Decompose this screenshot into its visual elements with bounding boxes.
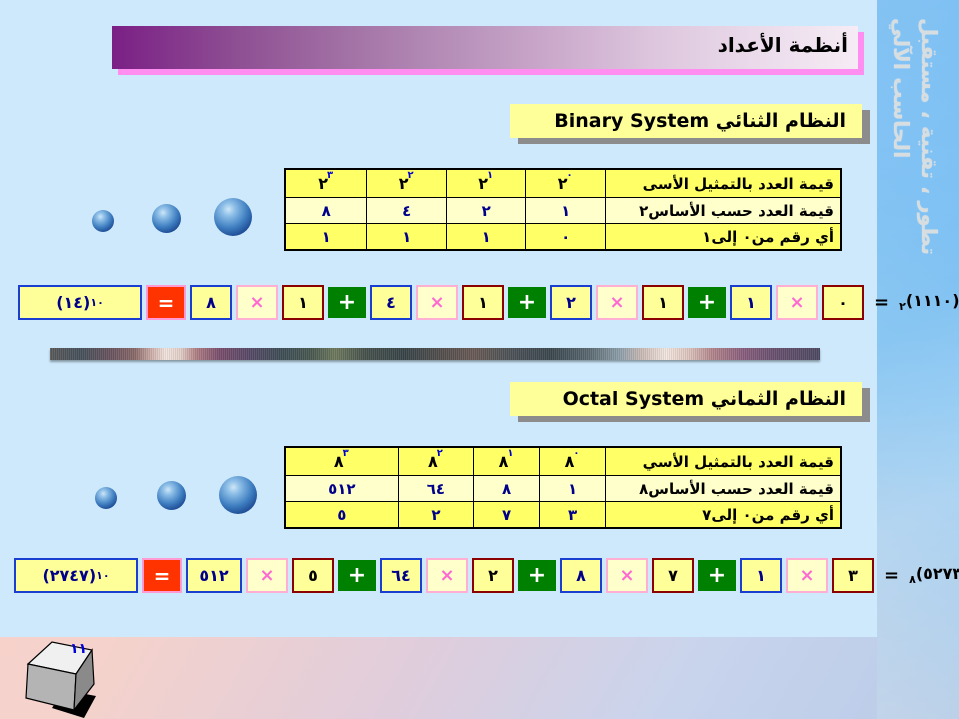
- octal-equation-label: العدد(٥٢٧٣)٨: [909, 564, 959, 586]
- octal-equation-equal-sign: =: [884, 565, 899, 586]
- side-caption: تطور ، تقنية ، مستقبل الحاسب الآلي: [879, 12, 957, 282]
- slide-canvas: تطور ، تقنية ، مستقبل الحاسب الآلي أنظمة…: [0, 0, 959, 719]
- binary-header-label: النظام الثنائي Binary System: [554, 110, 862, 132]
- octal-row-label-range: أي رقم من٠ إلى٧: [606, 502, 842, 529]
- binary-plus-2: +: [328, 287, 366, 318]
- binary-power-cell-0: ٢٠: [526, 169, 606, 198]
- binary-digit-2: ١: [367, 224, 447, 251]
- binary-place-value-1: ٢: [446, 198, 526, 224]
- binary-result-value: (١٤): [56, 293, 90, 312]
- octal-term-digit-0: ٣: [832, 558, 874, 593]
- octal-power-cell-1: ٨١: [474, 447, 540, 476]
- binary-power-exp-0: ٠: [567, 170, 573, 181]
- binary-table: ٢٣ ٢٢ ٢١ ٢٠ قيمة العدد بالتمثيل الأسى ٨ …: [284, 168, 842, 251]
- octal-digit-2: ٢: [398, 502, 473, 529]
- octal-place-value-2: ٦٤: [398, 476, 473, 502]
- octal-term-digit-1: ٧: [652, 558, 694, 593]
- table-row: ٨ ٤ ٢ ١ قيمة العدد حسب الأساس٢: [285, 198, 841, 224]
- binary-equals-box: =: [146, 285, 186, 320]
- octal-place-value-1: ٨: [474, 476, 540, 502]
- octal-plus-2: +: [338, 560, 376, 591]
- binary-term-digit-2: ١: [462, 285, 504, 320]
- page-title: أنظمة الأعداد: [718, 33, 848, 57]
- binary-term-times-3: ×: [236, 285, 278, 320]
- octal-equals-box: =: [142, 558, 182, 593]
- binary-power-exp-3: ٣: [327, 170, 333, 181]
- binary-power-exp-1: ١: [487, 170, 493, 181]
- octal-term-value-2: ٦٤: [380, 558, 422, 593]
- sphere-medium-binary: [152, 204, 181, 233]
- octal-power-exp-2: ٢: [437, 448, 443, 459]
- sphere-large-octal: [219, 476, 257, 514]
- binary-equation-number: العدد(١١١٠): [906, 291, 959, 310]
- binary-term-times-1: ×: [596, 285, 638, 320]
- octal-term-times-3: ×: [246, 558, 288, 593]
- octal-power-exp-0: ٠: [573, 448, 579, 459]
- octal-plus-1: +: [518, 560, 556, 591]
- octal-equation-row: (٢٧٤٧)١٠ = ٥١٢ × ٥ + ٦٤ × ٢ + ٨ × ٧ + ١ …: [14, 558, 959, 593]
- binary-term-value-2: ٤: [370, 285, 412, 320]
- binary-power-cell-3: ٢٣: [285, 169, 367, 198]
- binary-term-value-0: ١: [730, 285, 772, 320]
- binary-row-label-base: قيمة العدد حسب الأساس٢: [606, 198, 842, 224]
- slide-number-block: ١١: [24, 632, 144, 719]
- sphere-small-octal: [95, 487, 117, 509]
- binary-equation-label: العدد(١١١٠)٢: [899, 291, 959, 313]
- sphere-small-binary: [92, 210, 114, 232]
- octal-term-digit-2: ٢: [472, 558, 514, 593]
- binary-power-exp-2: ٢: [407, 170, 413, 181]
- octal-result-sub: ١٠: [96, 569, 109, 582]
- table-row: ٨٣ ٨٢ ٨١ ٨٠ قيمة العدد بالتمثيل الأسي: [285, 447, 841, 476]
- octal-term-value-3: ٥١٢: [186, 558, 242, 593]
- binary-plus-0: +: [688, 287, 726, 318]
- octal-power-cell-2: ٨٢: [398, 447, 473, 476]
- octal-power-exp-1: ١: [507, 448, 513, 459]
- sphere-medium-octal: [157, 481, 186, 510]
- binary-place-value-3: ٨: [285, 198, 367, 224]
- side-caption-line-2: الحاسب الآلي: [889, 18, 913, 158]
- binary-equation-number-sub: ٢: [899, 301, 906, 314]
- binary-place-value-0: ١: [526, 198, 606, 224]
- binary-equation-row: (١٤)١٠ = ٨ × ١ + ٤ × ١ + ٢ × ١ + ١ × ٠ =…: [18, 285, 959, 320]
- table-row: ١ ١ ١ ٠ أي رقم من٠ إلى١: [285, 224, 841, 251]
- binary-digit-0: ٠: [526, 224, 606, 251]
- binary-term-times-0: ×: [776, 285, 818, 320]
- octal-term-times-2: ×: [426, 558, 468, 593]
- octal-term-times-0: ×: [786, 558, 828, 593]
- binary-result-sub: ١٠: [90, 296, 103, 309]
- binary-plus-1: +: [508, 287, 546, 318]
- octal-term-digit-3: ٥: [292, 558, 334, 593]
- binary-section-header: النظام الثنائي Binary System: [510, 104, 862, 138]
- table-row: ٥١٢ ٦٤ ٨ ١ قيمة العدد حسب الأساس٨: [285, 476, 841, 502]
- binary-term-times-2: ×: [416, 285, 458, 320]
- slide-number: ١١: [70, 641, 87, 657]
- octal-equation-number: العدد(٥٢٧٣): [916, 564, 959, 583]
- table-row: ٥ ٢ ٧ ٣ أي رقم من٠ إلى٧: [285, 502, 841, 529]
- binary-term-value-3: ٨: [190, 285, 232, 320]
- octal-plus-0: +: [698, 560, 736, 591]
- octal-table: ٨٣ ٨٢ ٨١ ٨٠ قيمة العدد بالتمثيل الأسي ٥١…: [284, 446, 842, 529]
- title-banner: أنظمة الأعداد: [112, 26, 858, 69]
- octal-place-value-0: ١: [540, 476, 606, 502]
- octal-power-exp-3: ٣: [343, 448, 349, 459]
- octal-term-value-1: ٨: [560, 558, 602, 593]
- octal-result-value: (٢٧٤٧): [42, 566, 96, 585]
- side-caption-line-1: تطور ، تقنية ، مستقبل: [917, 18, 941, 255]
- section-divider: [50, 348, 820, 360]
- octal-place-value-3: ٥١٢: [285, 476, 398, 502]
- octal-digit-3: ٥: [285, 502, 398, 529]
- table-row: ٢٣ ٢٢ ٢١ ٢٠ قيمة العدد بالتمثيل الأسى: [285, 169, 841, 198]
- octal-section-header: النظام الثماني Octal System: [510, 382, 862, 416]
- octal-digit-1: ٧: [474, 502, 540, 529]
- binary-power-cell-1: ٢١: [446, 169, 526, 198]
- octal-result-box: (٢٧٤٧)١٠: [14, 558, 138, 593]
- binary-row-label-range: أي رقم من٠ إلى١: [606, 224, 842, 251]
- octal-digit-0: ٣: [540, 502, 606, 529]
- binary-term-value-1: ٢: [550, 285, 592, 320]
- octal-power-cell-0: ٨٠: [540, 447, 606, 476]
- octal-header-label: النظام الثماني Octal System: [563, 388, 862, 410]
- octal-equation-number-sub: ٨: [909, 574, 916, 587]
- binary-result-box: (١٤)١٠: [18, 285, 142, 320]
- binary-term-digit-1: ١: [642, 285, 684, 320]
- octal-row-label-exponential: قيمة العدد بالتمثيل الأسي: [606, 447, 842, 476]
- octal-row-label-base: قيمة العدد حسب الأساس٨: [606, 476, 842, 502]
- binary-equation-equal-sign: =: [874, 292, 889, 313]
- binary-row-label-exponential: قيمة العدد بالتمثيل الأسى: [606, 169, 842, 198]
- binary-power-cell-2: ٢٢: [367, 169, 447, 198]
- binary-term-digit-0: ٠: [822, 285, 864, 320]
- octal-power-cell-3: ٨٣: [285, 447, 398, 476]
- binary-digit-3: ١: [285, 224, 367, 251]
- octal-term-times-1: ×: [606, 558, 648, 593]
- binary-digit-1: ١: [446, 224, 526, 251]
- sphere-large-binary: [214, 198, 252, 236]
- binary-place-value-2: ٤: [367, 198, 447, 224]
- binary-term-digit-3: ١: [282, 285, 324, 320]
- octal-term-value-0: ١: [740, 558, 782, 593]
